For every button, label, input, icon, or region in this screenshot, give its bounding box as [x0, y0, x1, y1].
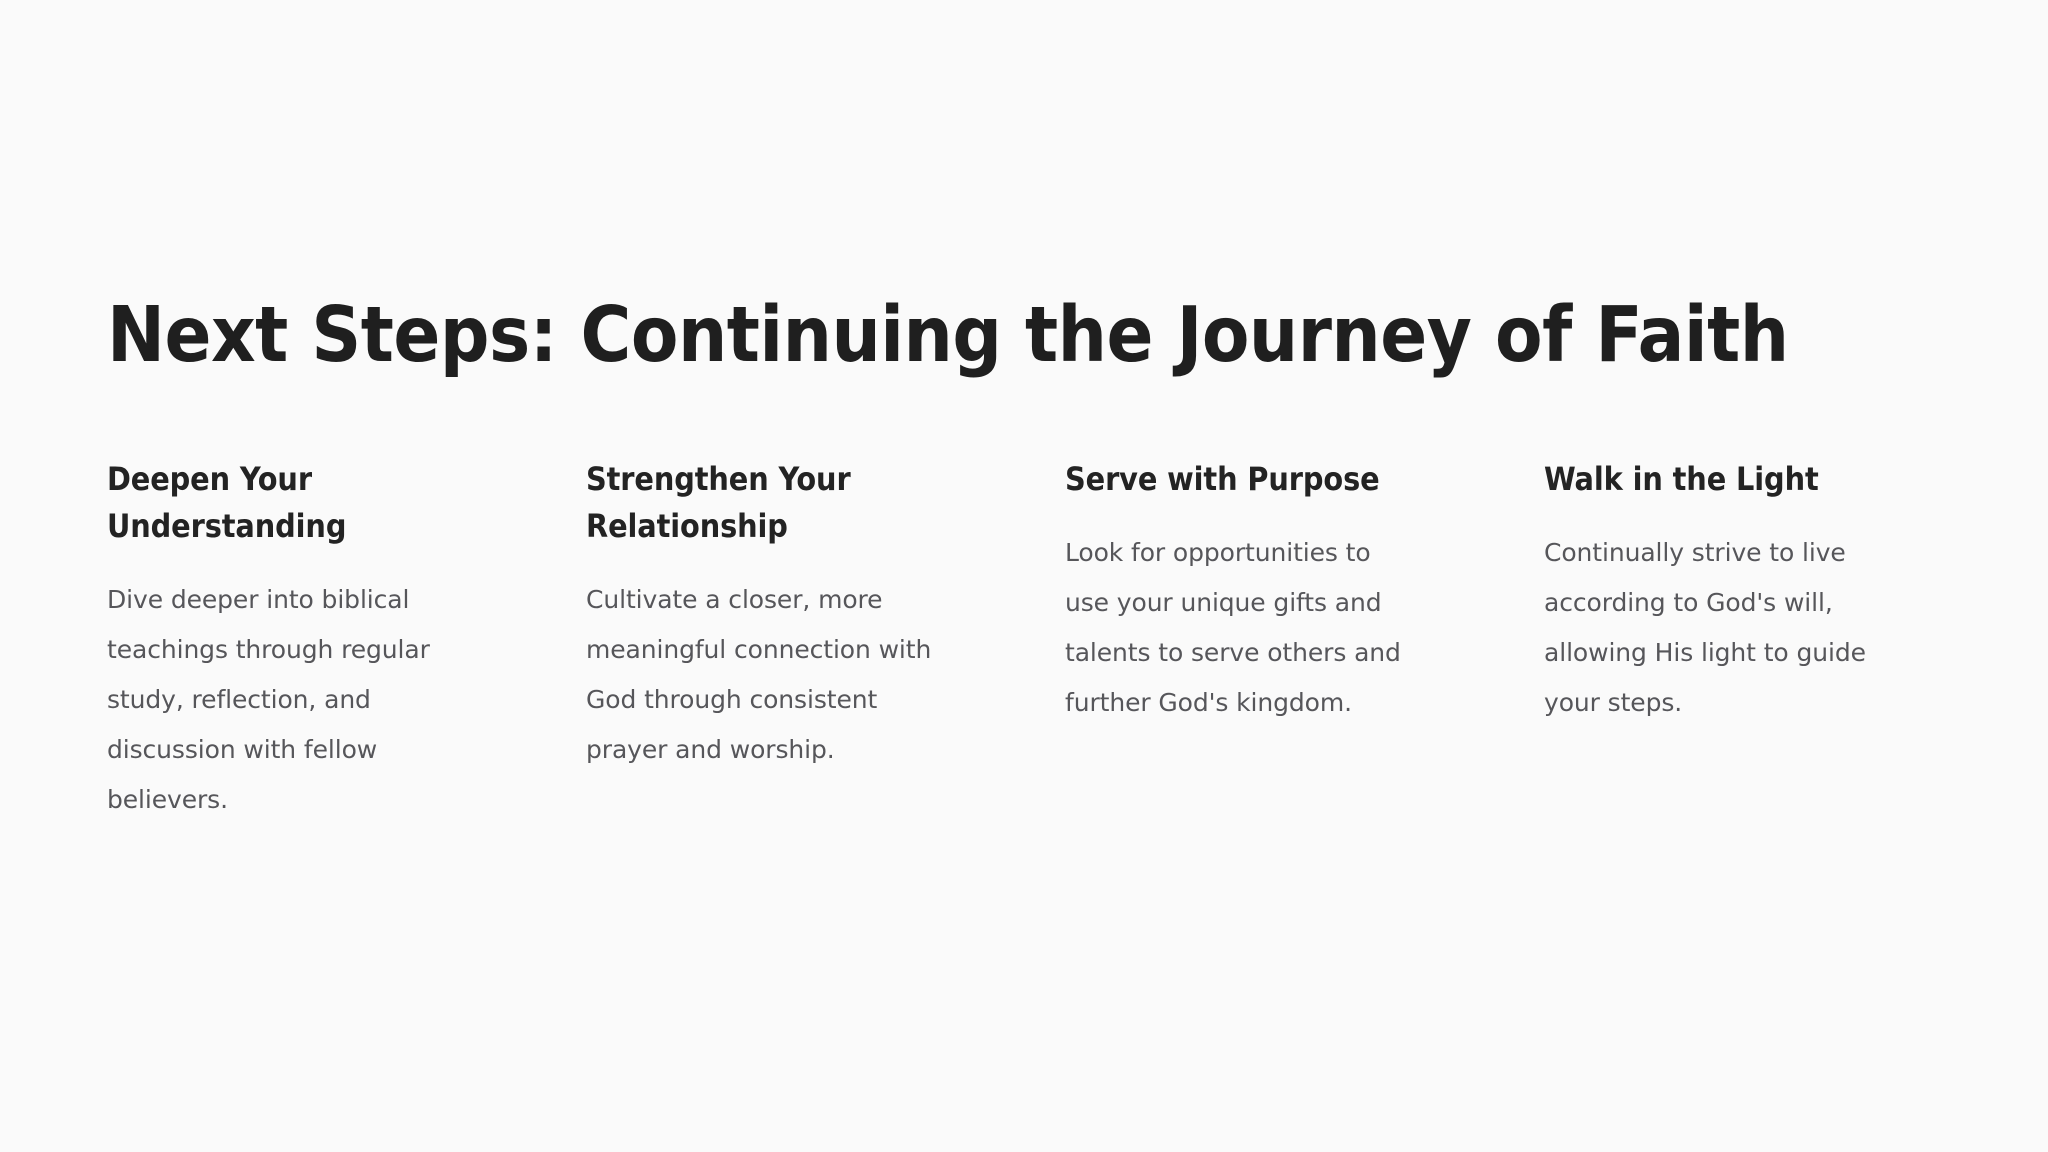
next-step-card-3: Serve with Purpose Look for opportunitie… — [1065, 456, 1422, 728]
next-step-heading-2: Strengthen Your Relationship — [586, 456, 943, 550]
next-step-body-1: Dive deeper into biblical teachings thro… — [107, 575, 464, 825]
next-step-body-4: Continually strive to live according to … — [1544, 528, 1901, 728]
next-steps-columns: Deepen Your Understanding Dive deeper in… — [107, 456, 1957, 825]
next-step-card-4: Walk in the Light Continually strive to … — [1544, 456, 1901, 728]
next-step-body-3: Look for opportunities to use your uniqu… — [1065, 528, 1422, 728]
slide-canvas: Next Steps: Continuing the Journey of Fa… — [0, 0, 2048, 1152]
next-step-heading-3: Serve with Purpose — [1065, 456, 1422, 503]
next-step-card-1: Deepen Your Understanding Dive deeper in… — [107, 456, 464, 825]
next-step-heading-4: Walk in the Light — [1544, 456, 1901, 503]
next-step-heading-1: Deepen Your Understanding — [107, 456, 464, 550]
next-step-body-2: Cultivate a closer, more meaningful conn… — [586, 575, 943, 775]
next-step-card-2: Strengthen Your Relationship Cultivate a… — [586, 456, 943, 775]
page-title: Next Steps: Continuing the Journey of Fa… — [107, 293, 1957, 379]
